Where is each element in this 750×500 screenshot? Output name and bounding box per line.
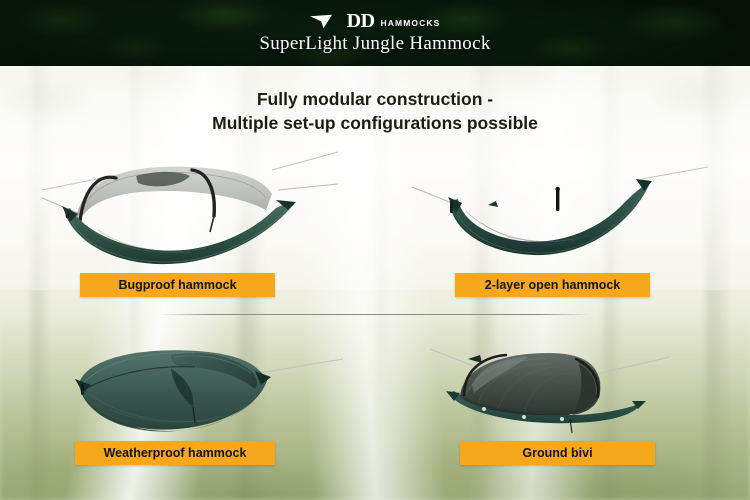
headline: Fully modular construction - Multiple se… (0, 88, 750, 135)
logo-text: DD (347, 11, 375, 31)
headline-line-2: Multiple set-up configurations possible (0, 112, 750, 136)
label-weatherproof-hammock: Weatherproof hammock (75, 441, 275, 465)
dd-swoosh-icon (310, 14, 344, 29)
header-band: DD HAMMOCKS SuperLight Jungle Hammock (0, 0, 750, 66)
section-divider (160, 314, 590, 315)
headline-line-1: Fully modular construction - (0, 88, 750, 112)
ground-bivi-photo (420, 335, 720, 445)
label-two-layer-open-hammock: 2-layer open hammock (455, 273, 650, 297)
label-ground-bivi: Ground bivi (460, 441, 655, 465)
logo-suffix: HAMMOCKS (381, 18, 441, 28)
weatherproof-hammock-photo (45, 325, 345, 445)
product-banner: DD HAMMOCKS SuperLight Jungle Hammock Fu… (0, 0, 750, 500)
page-title: SuperLight Jungle Hammock (0, 33, 750, 55)
bugproof-hammock-photo (40, 150, 340, 275)
label-bugproof-hammock: Bugproof hammock (80, 273, 275, 297)
two-layer-open-hammock-photo (410, 165, 710, 270)
brand-logo: DD HAMMOCKS (0, 11, 750, 31)
